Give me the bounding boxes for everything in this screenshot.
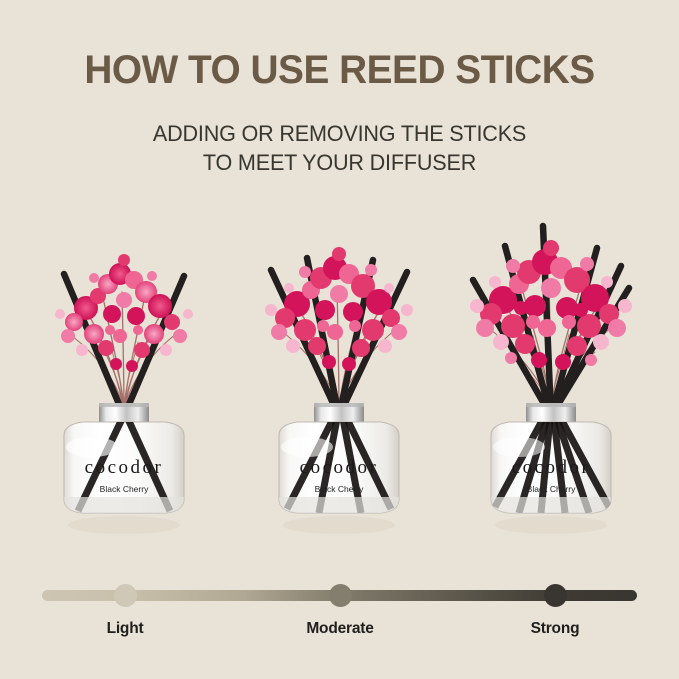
scent-label: Black Cherry [527,484,576,494]
subtitle-line-2: TO MEET YOUR DIFFUSER [14,149,666,178]
flower-arrangement-strong [451,218,651,418]
flower-cluster [55,254,193,372]
scent-label: Black Cherry [315,484,364,494]
slider-knob-moderate[interactable] [329,584,352,607]
subtitle-line-1: ADDING OR REMOVING THE STICKS [14,120,666,149]
diffuser-bottle-strong: cocodor Black Cherry [469,403,633,538]
brand-label: cocodor [300,457,379,478]
slider-knob-light[interactable] [114,584,137,607]
slider-label-strong: Strong [485,620,625,638]
diffuser-bottle-light: cocodor Black Cherry [42,403,206,538]
product-moderate: cocodor Black Cherry [239,218,439,558]
scent-label: Black Cherry [100,484,149,494]
flower-arrangement-moderate [239,218,439,418]
product-light: cocodor Black Cherry [24,218,224,558]
page-subtitle: ADDING OR REMOVING THE STICKS TO MEET YO… [14,120,666,178]
brand-label: cocodor [512,457,591,478]
brand-label: cocodor [85,457,164,478]
slider-label-light: Light [55,620,195,638]
slider-label-moderate: Moderate [270,620,410,638]
page-title: HOW TO USE REED STICKS [10,48,669,93]
product-strong: cocodor Black Cherry [451,218,651,558]
infographic-poster: HOW TO USE REED STICKS ADDING OR REMOVIN… [0,0,679,679]
slider-knob-strong[interactable] [544,584,567,607]
diffuser-bottle-moderate: cocodor Black Cherry [257,403,421,538]
intensity-slider[interactable] [42,589,637,602]
flower-arrangement-light [24,218,224,418]
